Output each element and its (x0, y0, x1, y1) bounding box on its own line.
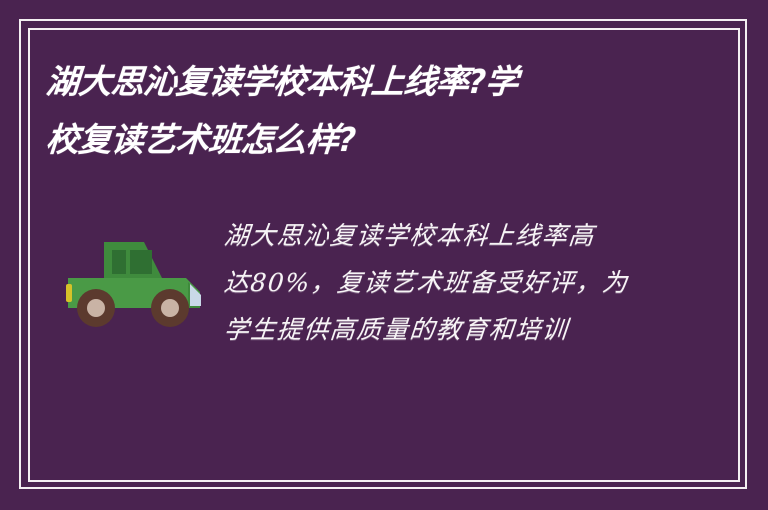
title-line-2: 校复读艺术班怎么样? (44, 118, 607, 162)
page-title: 湖大思沁复读学校本科上线率?学 校复读艺术班怎么样? (46, 60, 606, 162)
body-line-2: 达80%，复读艺术班备受好评，为 (222, 259, 666, 306)
body-paragraph: 湖大思沁复读学校本科上线率高 达80%，复读艺术班备受好评，为 学生提供高质量的… (224, 212, 664, 353)
pickup-truck-icon (64, 232, 216, 336)
body-line-1: 湖大思沁复读学校本科上线率高 (222, 212, 666, 259)
poster-canvas: 湖大思沁复读学校本科上线率?学 校复读艺术班怎么样? (0, 0, 768, 510)
title-line-1: 湖大思沁复读学校本科上线率?学 (44, 60, 607, 104)
body-line-3: 学生提供高质量的教育和培训 (222, 306, 666, 353)
